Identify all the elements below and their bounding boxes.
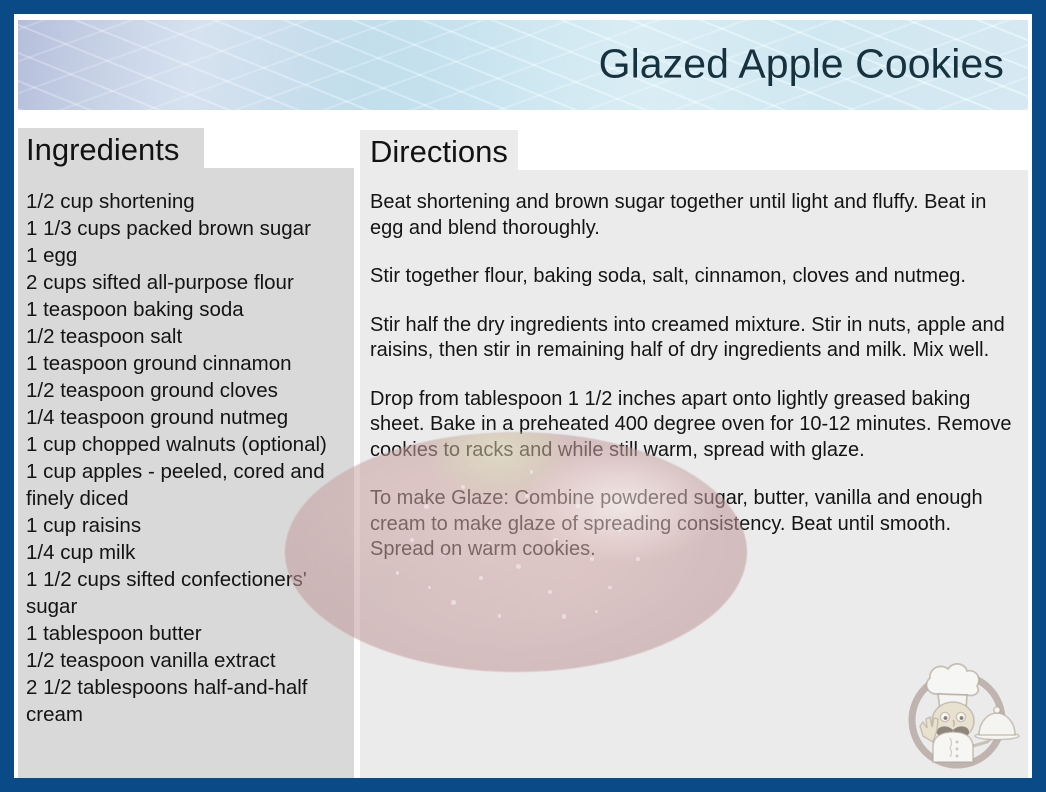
- ingredient-item: 2 cups sifted all-purpose flour: [26, 269, 344, 296]
- directions-text: Beat shortening and brown sugar together…: [370, 190, 1014, 563]
- ingredients-heading-label: Ingredients: [26, 134, 179, 165]
- ingredient-item: 1 tablespoon butter: [26, 620, 344, 647]
- ingredients-heading-tab: Ingredients: [18, 128, 204, 170]
- chef-logo: [893, 650, 1021, 778]
- direction-paragraph: Stir together flour, baking soda, salt, …: [370, 264, 1014, 290]
- ingredient-item: 1/2 cup shortening: [26, 188, 344, 215]
- ingredient-item: 1 cup raisins: [26, 512, 344, 539]
- direction-paragraph: Drop from tablespoon 1 1/2 inches apart …: [370, 387, 1014, 464]
- direction-paragraph: Beat shortening and brown sugar together…: [370, 190, 1014, 241]
- ingredient-item: 1 cup apples - peeled, cored and finely …: [26, 458, 344, 512]
- slide-border-left: [0, 0, 14, 792]
- ingredient-item: 1/2 teaspoon vanilla extract: [26, 647, 344, 674]
- ingredient-item: 1 teaspoon ground cinnamon: [26, 350, 344, 377]
- title-banner: Glazed Apple Cookies: [18, 20, 1028, 110]
- direction-paragraph: To make Glaze: Combine powdered sugar, b…: [370, 486, 1014, 563]
- slide-border-top: [0, 0, 1046, 14]
- page-title: Glazed Apple Cookies: [599, 44, 1004, 85]
- ingredient-item: 1 egg: [26, 242, 344, 269]
- ingredient-item: 1 1/3 cups packed brown sugar: [26, 215, 344, 242]
- ingredients-list: 1/2 cup shortening1 1/3 cups packed brow…: [26, 188, 344, 728]
- recipe-slide: Glazed Apple Cookies Ingredients 1/2 cup…: [0, 0, 1046, 792]
- ingredient-item: 1 1/2 cups sifted confectioners' sugar: [26, 566, 344, 620]
- ingredient-item: 1/2 teaspoon salt: [26, 323, 344, 350]
- cloche-tray-icon: [973, 707, 1019, 746]
- ingredient-item: 1/2 teaspoon ground cloves: [26, 377, 344, 404]
- directions-heading-tab: Directions: [360, 130, 518, 172]
- slide-border-bottom: [0, 778, 1046, 792]
- direction-paragraph: Stir half the dry ingredients into cream…: [370, 313, 1014, 364]
- ingredient-item: 1/4 teaspoon ground nutmeg: [26, 404, 344, 431]
- ingredient-item: 2 1/2 tablespoons half-and-half cream: [26, 674, 344, 728]
- ingredient-item: 1 teaspoon baking soda: [26, 296, 344, 323]
- ingredient-item: 1 cup chopped walnuts (optional): [26, 431, 344, 458]
- slide-border-right: [1032, 0, 1046, 792]
- ingredients-panel: 1/2 cup shortening1 1/3 cups packed brow…: [18, 168, 354, 780]
- directions-heading-label: Directions: [370, 136, 508, 167]
- ingredient-item: 1/4 cup milk: [26, 539, 344, 566]
